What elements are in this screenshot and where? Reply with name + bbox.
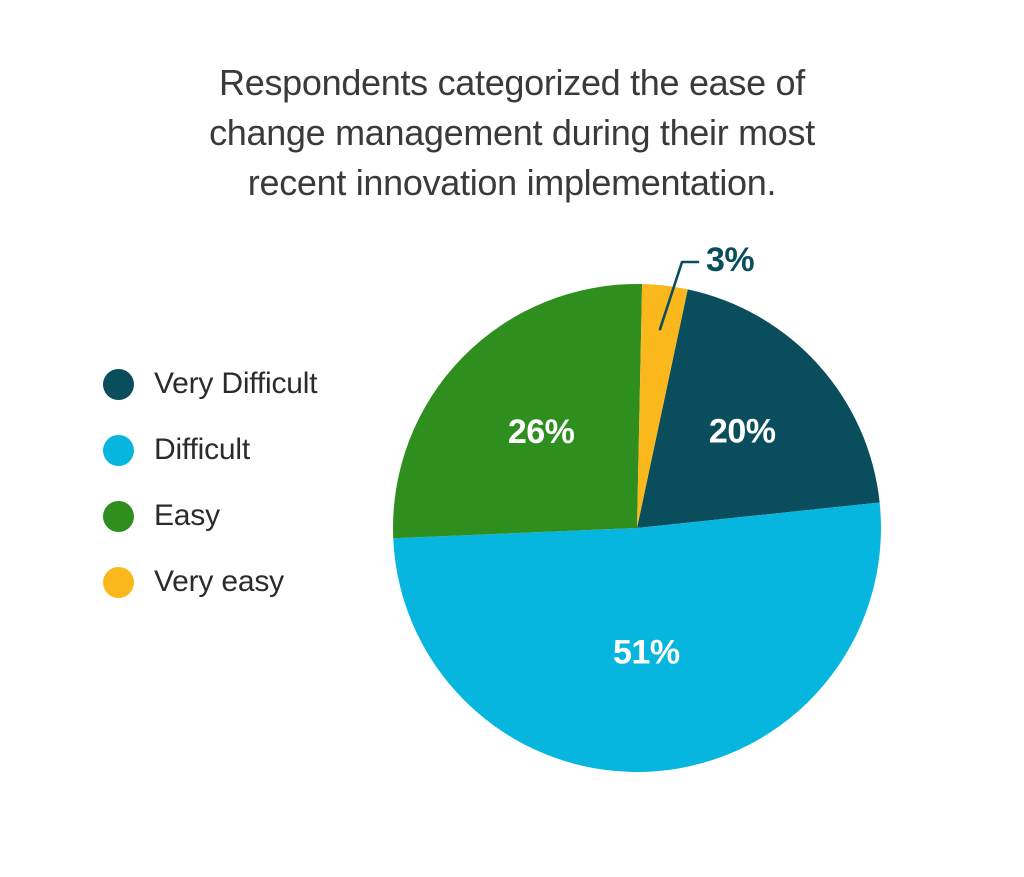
- data-label-difficult: 51%: [613, 633, 680, 671]
- legend-label: Difficult: [154, 434, 250, 466]
- legend-swatch-circle-icon: [103, 369, 134, 400]
- pie-data-labels: 20% 51% 26% 3%: [508, 241, 776, 672]
- pie-slice-easy[interactable]: [393, 284, 642, 538]
- legend-swatch-circle-icon: [103, 501, 134, 532]
- legend-item-easy[interactable]: Easy: [103, 498, 363, 534]
- chart-title: Respondents categorized the ease of chan…: [160, 58, 864, 208]
- legend-swatch-circle-icon: [103, 567, 134, 598]
- chart-legend: Very Difficult Difficult Easy Very easy: [103, 366, 363, 600]
- pie-slice-very-easy[interactable]: [637, 284, 688, 528]
- legend-label: Very Difficult: [154, 368, 317, 400]
- legend-swatch-circle-icon: [103, 435, 134, 466]
- pie-slice-difficult[interactable]: [393, 503, 881, 772]
- data-label-easy: 26%: [508, 413, 575, 451]
- callout-leader-line: [660, 262, 698, 329]
- legend-item-difficult[interactable]: Difficult: [103, 432, 363, 468]
- pie-slices: [393, 284, 881, 772]
- data-label-very-easy: 3%: [706, 241, 754, 279]
- legend-label: Very easy: [154, 566, 284, 598]
- data-label-very-difficult: 20%: [709, 412, 776, 450]
- legend-label: Easy: [154, 500, 220, 532]
- legend-item-very-easy[interactable]: Very easy: [103, 564, 363, 600]
- pie-chart-figure: Respondents categorized the ease of chan…: [0, 0, 1024, 877]
- legend-item-very-difficult[interactable]: Very Difficult: [103, 366, 363, 402]
- pie-slice-very-difficult[interactable]: [637, 289, 880, 528]
